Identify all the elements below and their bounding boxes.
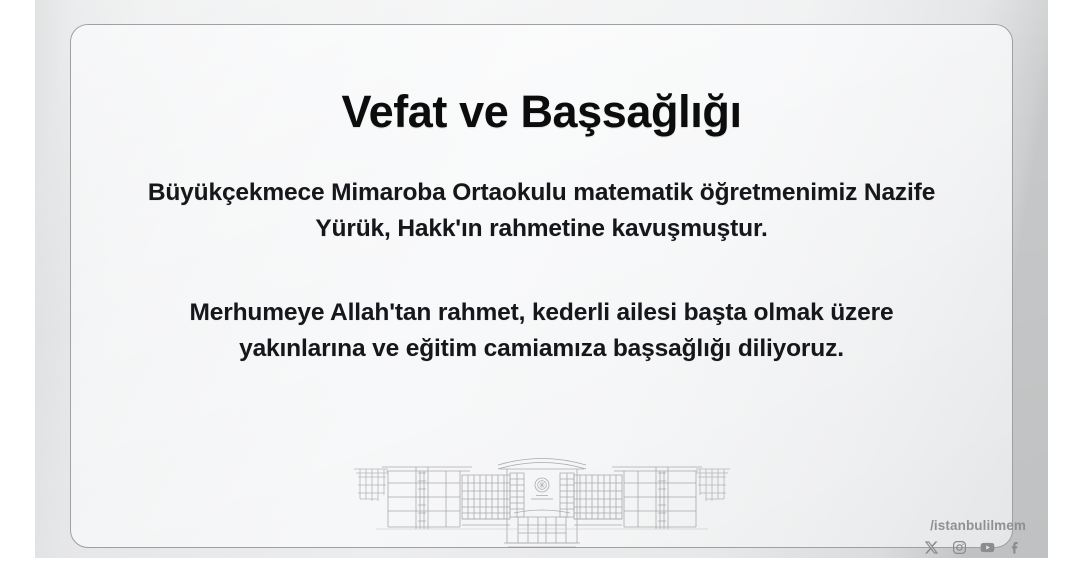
social-footer: /istanbulilmem: [923, 519, 1026, 557]
building-illustration: [342, 443, 742, 549]
page-title: Vefat ve Başsağlığı: [71, 87, 1012, 137]
announcement-paragraph-1: Büyükçekmece Mimaroba Ortaokulu matemati…: [141, 175, 942, 247]
facebook-icon[interactable]: [1007, 539, 1024, 556]
instagram-icon[interactable]: [951, 539, 968, 556]
announcement-slide: Vefat ve Başsağlığı Büyükçekmece Mimarob…: [35, 0, 1048, 558]
announcement-paragraph-2: Merhumeye Allah'tan rahmet, kederli aile…: [141, 295, 942, 367]
screenshot-root: Vefat ve Başsağlığı Büyükçekmece Mimarob…: [0, 0, 1080, 579]
youtube-icon[interactable]: [979, 539, 996, 556]
x-twitter-icon[interactable]: [923, 539, 940, 556]
social-handle: /istanbulilmem: [923, 519, 1026, 533]
announcement-card: Vefat ve Başsağlığı Büyükçekmece Mimarob…: [70, 24, 1013, 548]
social-icon-row: [923, 539, 1026, 556]
announcement-body: Büyükçekmece Mimaroba Ortaokulu matemati…: [141, 175, 942, 367]
